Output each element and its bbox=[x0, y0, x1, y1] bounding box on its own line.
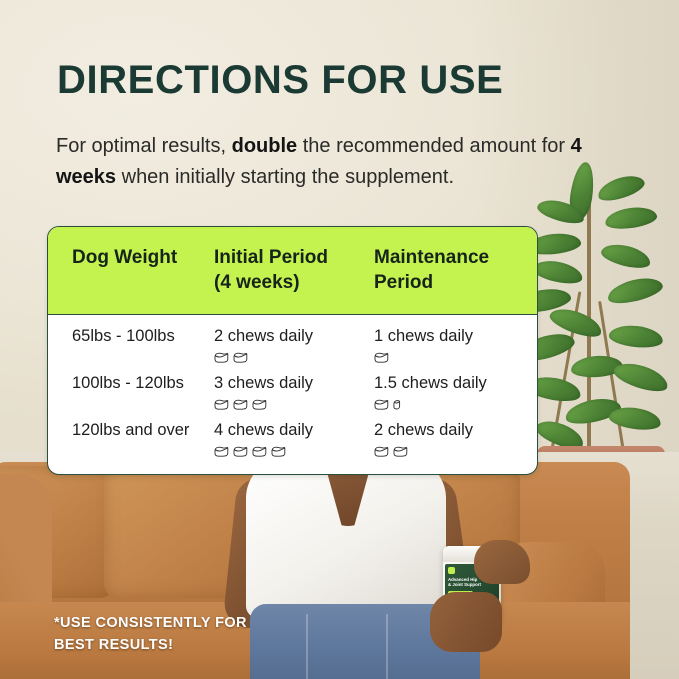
column-header-dog-weight-line1: Dog Weight bbox=[72, 245, 214, 270]
cell-initial-period: 2 chews daily bbox=[214, 325, 374, 365]
chew-icon bbox=[374, 445, 389, 458]
cell-initial-period: 4 chews daily bbox=[214, 419, 374, 459]
chew-icon bbox=[233, 351, 248, 364]
column-header-initial-line2: (4 weeks) bbox=[214, 270, 374, 295]
maintenance-chew-icons bbox=[374, 396, 534, 412]
subhead-text-3: when initially starting the supplement. bbox=[116, 166, 454, 188]
chew-icon bbox=[214, 351, 229, 364]
initial-chew-icons bbox=[214, 396, 374, 412]
cell-initial-period: 3 chews daily bbox=[214, 372, 374, 412]
cell-dog-weight: 120lbs and over bbox=[48, 419, 214, 459]
maintenance-chew-icons bbox=[374, 443, 534, 459]
table-row: 120lbs and over4 chews daily2 chews dail… bbox=[48, 412, 537, 459]
advertisement-graphic: Advanced Hip & Joint Support SOFT CHEWS … bbox=[0, 0, 679, 679]
table-header-row: Dog Weight Initial Period (4 weeks) Main… bbox=[48, 227, 537, 315]
chew-icon bbox=[393, 398, 401, 411]
cell-dog-weight: 100lbs - 120lbs bbox=[48, 372, 214, 412]
subhead-bold-double: double bbox=[232, 135, 298, 157]
column-header-maintenance-line2: Period bbox=[374, 270, 534, 295]
chew-icon bbox=[214, 398, 229, 411]
column-header-dog-weight: Dog Weight bbox=[48, 245, 214, 314]
maintenance-chew-icons bbox=[374, 349, 534, 365]
column-header-maintenance-period: Maintenance Period bbox=[374, 245, 534, 314]
chew-icon bbox=[393, 445, 408, 458]
person-holding-product bbox=[236, 452, 456, 679]
cell-maintenance-period: 2 chews daily bbox=[374, 419, 534, 459]
column-header-initial-line1: Initial Period bbox=[214, 245, 374, 270]
chew-icon bbox=[233, 398, 248, 411]
initial-chew-icons bbox=[214, 349, 374, 365]
table-row: 65lbs - 100lbs2 chews daily1 chews daily bbox=[48, 315, 537, 365]
subhead-text-2: the recommended amount for bbox=[297, 135, 570, 157]
hand-feeding-dog bbox=[474, 540, 530, 584]
footnote: *USE CONSISTENTLY FOR BEST RESULTS! bbox=[54, 612, 247, 656]
hand-holding-jar bbox=[430, 592, 502, 652]
footnote-line-1: *USE CONSISTENTLY FOR bbox=[54, 612, 247, 634]
chew-icon bbox=[233, 445, 248, 458]
subhead-text-1: For optimal results, bbox=[56, 135, 232, 157]
subheading: For optimal results, double the recommen… bbox=[56, 131, 636, 193]
page-title: DIRECTIONS FOR USE bbox=[57, 58, 503, 103]
column-header-maintenance-line1: Maintenance bbox=[374, 245, 534, 270]
dosage-table-card: Dog Weight Initial Period (4 weeks) Main… bbox=[47, 226, 538, 475]
cell-dog-weight: 65lbs - 100lbs bbox=[48, 325, 214, 365]
brand-leaf-icon bbox=[448, 567, 455, 574]
cell-maintenance-period: 1 chews daily bbox=[374, 325, 534, 365]
initial-chew-icons bbox=[214, 443, 374, 459]
chew-icon bbox=[374, 351, 389, 364]
chew-icon bbox=[271, 445, 286, 458]
footnote-line-2: BEST RESULTS! bbox=[54, 634, 247, 656]
chew-icon bbox=[214, 445, 229, 458]
cell-maintenance-period: 1.5 chews daily bbox=[374, 372, 534, 412]
table-body: 65lbs - 100lbs2 chews daily1 chews daily… bbox=[48, 315, 537, 459]
chew-icon bbox=[252, 398, 267, 411]
column-header-initial-period: Initial Period (4 weeks) bbox=[214, 245, 374, 314]
chew-icon bbox=[374, 398, 389, 411]
table-row: 100lbs - 120lbs3 chews daily1.5 chews da… bbox=[48, 365, 537, 412]
chew-icon bbox=[252, 445, 267, 458]
